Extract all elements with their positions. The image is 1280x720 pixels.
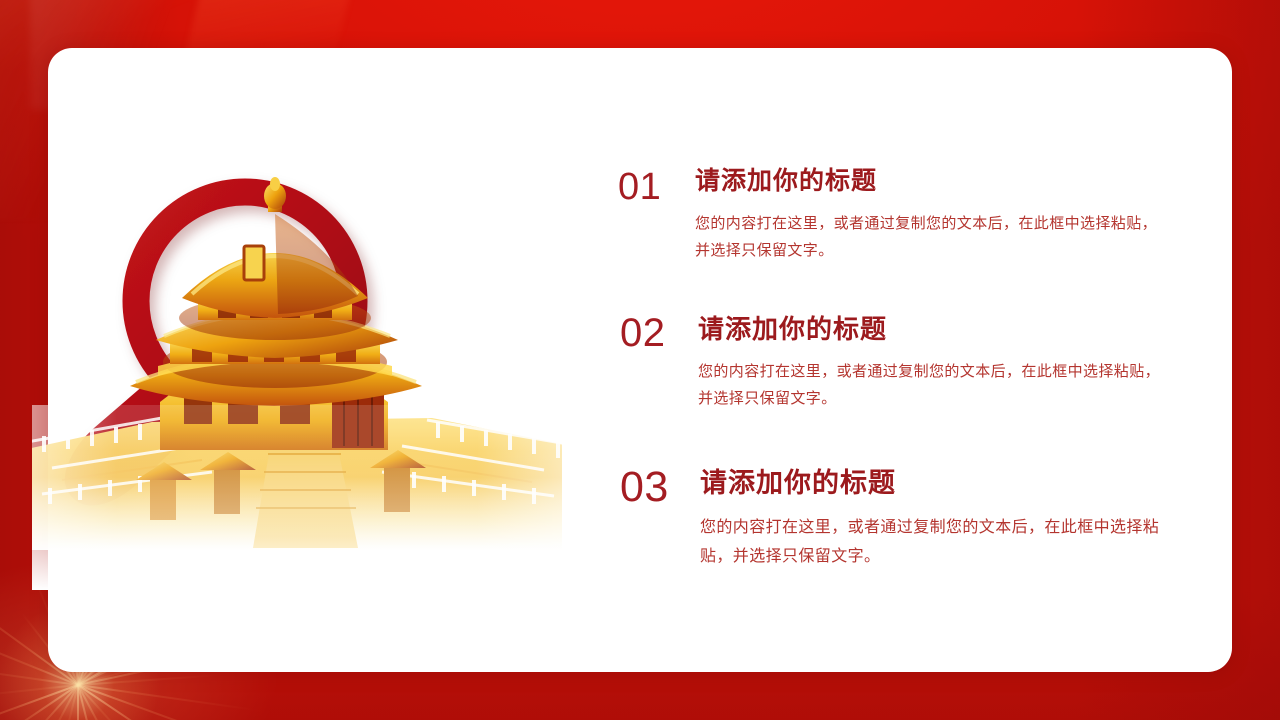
illustration-temple-of-heaven [32, 150, 562, 590]
bullet-desc-02: 您的内容打在这里，或者通过复制您的文本后，在此框中选择粘贴，并选择只保留文字。 [698, 358, 1168, 414]
bullet-number-01: 01 [618, 168, 661, 206]
bullet-title-02: 请添加你的标题 [698, 315, 1168, 344]
bullet-desc-03: 您的内容打在这里，或者通过复制您的文本后，在此框中选择粘贴，并选择只保留文字。 [700, 513, 1180, 572]
bullet-number-02: 02 [620, 313, 666, 353]
bullet-body-01: 请添加你的标题 您的内容打在这里，或者通过复制您的文本后，在此框中选择粘贴，并选… [695, 168, 1165, 265]
bullet-title-03: 请添加你的标题 [700, 469, 1180, 499]
light-burst-rays [78, 684, 79, 685]
bullet-body-03: 请添加你的标题 您的内容打在这里，或者通过复制您的文本后，在此框中选择粘贴，并选… [700, 469, 1180, 572]
bullet-number-03: 03 [620, 466, 669, 509]
bullet-title-01: 请添加你的标题 [695, 168, 1165, 196]
bullet-blocks: 01 请添加你的标题 您的内容打在这里，或者通过复制您的文本后，在此框中选择粘贴… [600, 150, 1180, 610]
bullet-body-02: 请添加你的标题 您的内容打在这里，或者通过复制您的文本后，在此框中选择粘贴，并选… [698, 315, 1168, 413]
bullet-desc-01: 您的内容打在这里，或者通过复制您的文本后，在此框中选择粘贴，并选择只保留文字。 [695, 210, 1165, 266]
slide-canvas: 01 请添加你的标题 您的内容打在这里，或者通过复制您的文本后，在此框中选择粘贴… [0, 0, 1280, 720]
